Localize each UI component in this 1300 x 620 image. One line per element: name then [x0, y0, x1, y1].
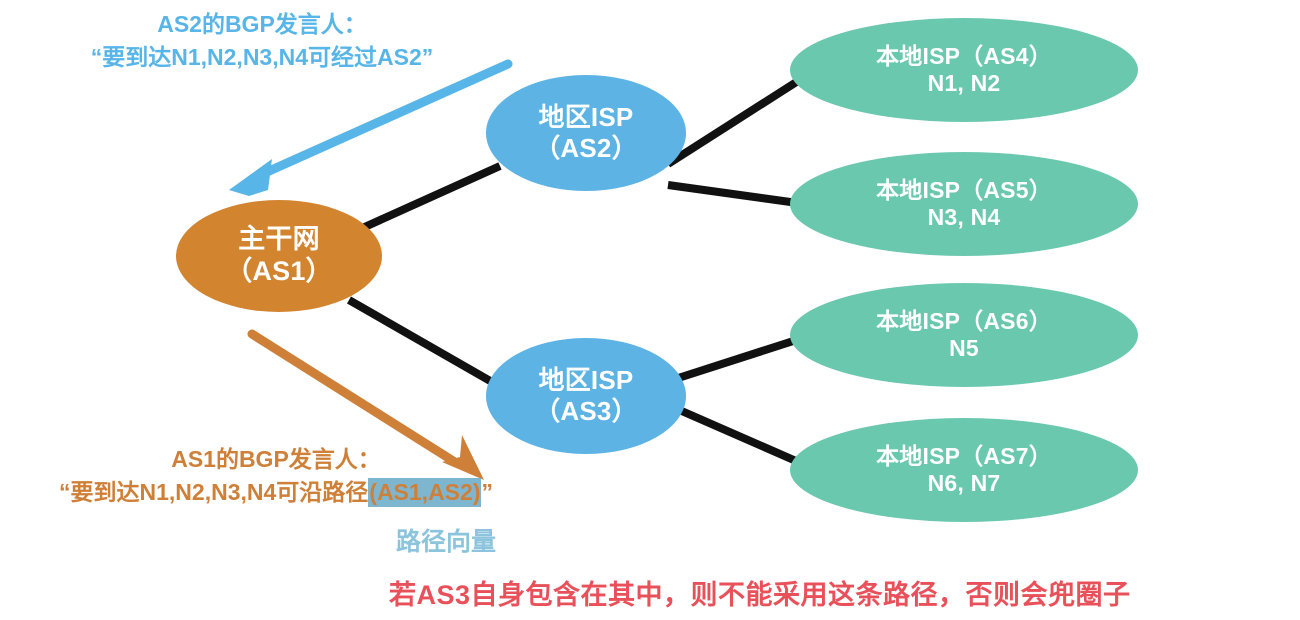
node-as2-line1: 地区ISP — [539, 102, 634, 133]
link-as1-as2 — [358, 166, 500, 230]
link-as2-as4 — [668, 72, 812, 164]
node-as3-regional[interactable]: 地区ISP （AS3） — [486, 338, 686, 454]
node-as1-line2: （AS1） — [225, 256, 333, 288]
link-as1-as3 — [349, 300, 492, 382]
node-as6-line1: 本地ISP（AS6） — [876, 308, 1052, 335]
node-as1-line1: 主干网 — [238, 224, 320, 256]
annotation-as1-line2: “要到达N1,N2,N3,N4可沿路径(AS1,AS2)” — [6, 476, 546, 509]
node-as5-local[interactable]: 本地ISP（AS5） N3, N4 — [790, 152, 1138, 256]
node-as6-line2: N5 — [949, 335, 979, 362]
annotation-as1-line1: AS1的BGP发言人： — [6, 443, 546, 476]
node-as6-local[interactable]: 本地ISP（AS6） N5 — [790, 283, 1138, 387]
path-vector-highlight: (AS1,AS2) — [368, 478, 481, 507]
node-as7-local[interactable]: 本地ISP（AS7） N6, N7 — [790, 418, 1138, 522]
node-as5-line1: 本地ISP（AS5） — [876, 177, 1052, 204]
node-as3-line1: 地区ISP — [539, 365, 634, 396]
node-as1-backbone[interactable]: 主干网 （AS1） — [176, 200, 382, 312]
path-vector-label: 路径向量 — [396, 522, 496, 558]
annotation-as2-line2: “要到达N1,N2,N3,N4可经过AS2” — [12, 41, 512, 74]
warning-text: 若AS3自身包含在其中，则不能采用这条路径，否则会兜圈子 — [389, 573, 1131, 612]
link-as3-as7 — [668, 405, 812, 468]
annotation-as2-line1: AS2的BGP发言人： — [12, 8, 512, 41]
node-as4-line1: 本地ISP（AS4） — [876, 43, 1052, 70]
node-as4-line2: N1, N2 — [928, 70, 1001, 97]
annotation-as1-line2-prefix: “要到达N1,N2,N3,N4可沿路径 — [59, 479, 368, 505]
annotation-as1-speaker: AS1的BGP发言人： “要到达N1,N2,N3,N4可沿路径(AS1,AS2)… — [6, 443, 546, 508]
node-as2-line2: （AS2） — [534, 133, 638, 164]
diagram-canvas: 主干网 （AS1） 地区ISP （AS2） 地区ISP （AS3） 本地ISP（… — [0, 0, 1300, 620]
node-as2-regional[interactable]: 地区ISP （AS2） — [486, 75, 686, 191]
node-as5-line2: N3, N4 — [928, 204, 1001, 231]
node-as7-line2: N6, N7 — [928, 470, 1001, 497]
node-as3-line2: （AS3） — [534, 396, 638, 427]
node-as7-line1: 本地ISP（AS7） — [876, 443, 1052, 470]
annotation-as1-line2-suffix: ” — [481, 479, 493, 505]
node-as4-local[interactable]: 本地ISP（AS4） N1, N2 — [790, 18, 1138, 122]
annotation-as2-speaker: AS2的BGP发言人： “要到达N1,N2,N3,N4可经过AS2” — [12, 8, 512, 73]
blue-callout-arrow — [229, 64, 508, 196]
